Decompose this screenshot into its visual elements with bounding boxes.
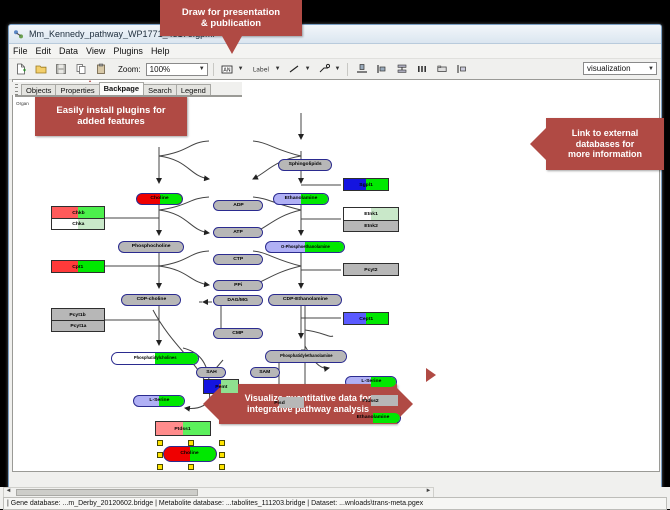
status-text: | Gene database: ...m_Derby_20120602.bri… <box>3 497 667 510</box>
svg-text:Label: Label <box>253 67 270 74</box>
callout-draw-line2: & publication <box>201 18 261 29</box>
tab-legend[interactable]: Legend <box>176 84 211 95</box>
callout-visualize-line2: integrative pathway analysis <box>247 404 369 415</box>
gene-row: Ptdss1 <box>156 422 210 435</box>
gene-row: Pcyt1a <box>52 320 104 331</box>
gene-product-node[interactable]: Sgpl1 <box>343 178 389 191</box>
scroll-right-arrow-icon[interactable]: ► <box>424 488 433 497</box>
menu-plugins[interactable]: Plugins <box>113 46 143 56</box>
zoom-combo[interactable]: 100% ▼ <box>146 63 208 76</box>
gene-row: Chka <box>52 218 104 229</box>
gene-label: Ptdss2 <box>363 398 379 404</box>
interaction-icon[interactable] <box>316 61 333 78</box>
callout-plugins: Easily install plugins for added feature… <box>35 96 187 136</box>
open-folder-icon[interactable] <box>32 61 49 78</box>
toolbar-separator <box>213 63 214 76</box>
metabolite-node[interactable]: Phosphocholine <box>118 241 184 253</box>
node-label: CTP <box>233 257 243 262</box>
chevron-down-icon: ▼ <box>199 66 205 72</box>
gene-product-node[interactable]: Ptdss1 <box>155 421 211 436</box>
zoom-label: Zoom: <box>118 65 141 74</box>
menu-edit[interactable]: Edit <box>36 46 52 56</box>
side-panel: Objects Properties Backpage Search Legen… <box>10 82 242 95</box>
gene-label: Etnk1 <box>364 211 378 217</box>
gene-row: Cpt1 <box>52 261 104 272</box>
align-left-icon[interactable] <box>373 61 390 78</box>
gene-product-node[interactable]: Cept1 <box>343 312 389 325</box>
metabolite-node[interactable]: CDP-choline <box>121 294 181 306</box>
floppy-save-icon[interactable] <box>52 61 69 78</box>
callout-visualize-line1: Visualize quantitative data for <box>245 393 372 404</box>
node-label: CDP-choline <box>136 297 166 302</box>
chevron-down-icon: ▼ <box>648 66 654 72</box>
gene-row: Etnk1 <box>344 208 398 220</box>
node-label: Phosphocholine <box>132 244 171 249</box>
callout-links-arrow <box>530 128 546 160</box>
node-label: Phosphatidylethanolamine <box>280 354 333 358</box>
node-label: Phosphatidylcholines <box>134 356 177 360</box>
tab-properties[interactable]: Properties <box>55 84 99 95</box>
datanode-dropdown-icon[interactable]: ▼ <box>238 66 244 72</box>
gene-label: Cept1 <box>359 316 373 322</box>
gene-label: Pcyt2 <box>364 267 377 273</box>
node-label: Choline <box>181 451 199 456</box>
metabolite-node[interactable]: L-Serine <box>133 395 185 407</box>
menu-file[interactable]: File <box>13 46 28 56</box>
callout-links-line2: databases for <box>576 139 635 150</box>
gene-label: Ptdss1 <box>175 426 191 432</box>
visualization-combo[interactable]: visualization ▼ <box>583 62 657 75</box>
node-label: SAH <box>206 370 217 375</box>
callout-draw-line1: Draw for presentation <box>182 7 280 18</box>
metabolite-node[interactable]: PPi <box>213 280 263 291</box>
gene-label: Chka <box>72 221 84 227</box>
menubar: File Edit Data View Plugins Help <box>9 44 661 59</box>
gene-label: Sgpl1 <box>359 182 373 188</box>
callout-draw-arrow <box>222 36 242 54</box>
node-label: L-Serine <box>149 398 169 403</box>
line-icon[interactable] <box>286 61 303 78</box>
gene-row: Pcyt2 <box>344 264 398 275</box>
pathvisio-app-icon <box>13 29 24 40</box>
gene-label: Etnk2 <box>364 223 378 229</box>
tab-backpage[interactable]: Backpage <box>99 82 144 95</box>
gene-label: Pemt <box>215 384 227 390</box>
metabolite-node[interactable]: Sphingolipids <box>278 159 332 171</box>
gene-row: Pcyt1b <box>52 309 104 320</box>
gene-label: Pisd <box>274 400 285 406</box>
backpage-scroll-content: ChEBI 15354 HMDB HMDB00097 Kegg Compound… <box>16 96 231 97</box>
callout-plugins-line2: added features <box>77 116 145 127</box>
metabolite-node[interactable]: DAG/MG <box>213 295 263 306</box>
metabolite-node[interactable]: Phosphatidylcholines <box>111 352 199 365</box>
statusbar: ◄ ► | Gene database: ...m_Derby_20120602… <box>0 487 670 509</box>
gene-product-node[interactable]: Cpt1 <box>51 260 105 273</box>
distribute-icon[interactable] <box>413 61 430 78</box>
node-label: ATP <box>233 230 243 235</box>
metabolite-node[interactable]: CTP <box>213 254 263 265</box>
screenshot-root: Mm_Kennedy_pathway_WP1771_45176.gpml Fil… <box>0 0 670 509</box>
callout-expression-arrow <box>426 368 436 382</box>
new-document-icon[interactable] <box>12 61 29 78</box>
node-label: ADP <box>233 203 244 208</box>
clipboard-paste-icon[interactable] <box>92 61 109 78</box>
side-panel-tabs: Objects Properties Backpage Search Legen… <box>10 82 242 95</box>
copy-icon[interactable] <box>72 61 89 78</box>
backpage-panel: ChEBI 15354 HMDB HMDB00097 Kegg Compound… <box>15 95 242 97</box>
group-icon[interactable] <box>433 61 450 78</box>
metabolite-node[interactable]: Choline <box>136 193 183 205</box>
tab-drag-handle[interactable] <box>15 82 19 95</box>
metabolite-node[interactable]: O-Phosphoethanolamine <box>265 241 345 253</box>
node-label: Ethanolamine <box>357 415 390 420</box>
zoom-value: 100% <box>150 65 170 74</box>
gene-label: Pcyt1b <box>70 312 86 318</box>
callout-draw: Draw for presentation & publication <box>160 0 302 36</box>
window-titlebar: Mm_Kennedy_pathway_WP1771_45176.gpml <box>9 25 661 44</box>
callout-links: Link to external databases for more info… <box>546 118 664 170</box>
node-label: Ethanolamine <box>285 196 318 201</box>
gene-row: Etnk2 <box>344 220 398 232</box>
metabolite-node[interactable]: Ethanolamine <box>273 193 329 205</box>
align-top-icon[interactable] <box>353 61 370 78</box>
gene-label: Pcyt1a <box>70 323 86 329</box>
gene-product-node[interactable]: Pcyt2 <box>343 263 399 276</box>
svg-text:AN: AN <box>224 67 231 73</box>
tab-search[interactable]: Search <box>143 84 177 95</box>
scroll-left-arrow-icon[interactable]: ◄ <box>4 488 13 497</box>
node-label: CMP <box>232 331 243 336</box>
toolbar-separator-2 <box>347 63 348 76</box>
node-label: Sphingolipids <box>289 162 322 167</box>
metabolite-node[interactable]: CMP <box>213 328 263 339</box>
gene-product-node[interactable]: Pcyt1bPcyt1a <box>51 308 105 332</box>
node-label: CDP-Ethanolamine <box>283 297 328 302</box>
hscrollbar-thumb[interactable] <box>16 489 198 496</box>
menu-view[interactable]: View <box>86 46 105 56</box>
gene-product-node[interactable]: ChkbChka <box>51 206 105 230</box>
menu-help[interactable]: Help <box>151 46 170 56</box>
label-icon[interactable]: Label <box>249 61 273 78</box>
datanode-icon[interactable]: AN <box>219 61 236 78</box>
gene-label: Cpt1 <box>72 264 83 270</box>
line-dropdown-icon[interactable]: ▼ <box>305 66 311 72</box>
gene-row: Cept1 <box>344 313 388 324</box>
order-icon[interactable] <box>453 61 470 78</box>
label-dropdown-icon[interactable]: ▼ <box>275 66 281 72</box>
node-label: PPi <box>234 283 242 288</box>
node-label: Choline <box>150 196 168 201</box>
gene-label: Chkb <box>72 210 84 216</box>
callout-plugins-line1: Easily install plugins for <box>56 105 165 116</box>
gene-row: Sgpl1 <box>344 179 388 190</box>
metabolite-node[interactable]: Phosphatidylethanolamine <box>265 350 347 363</box>
callout-links-line3: more information <box>568 149 642 160</box>
pathvisio-window: Mm_Kennedy_pathway_WP1771_45176.gpml Fil… <box>8 24 662 499</box>
node-label: O-Phosphoethanolamine <box>281 245 330 249</box>
callout-visualize-arrow <box>203 388 219 420</box>
interaction-dropdown-icon[interactable]: ▼ <box>335 66 341 72</box>
node-label: L-Serine <box>361 379 381 384</box>
gene-row: Chkb <box>52 207 104 218</box>
metabolite-node[interactable]: ADP <box>213 200 263 211</box>
tab-objects[interactable]: Objects <box>21 84 56 95</box>
gene-product-node[interactable]: Etnk1Etnk2 <box>343 207 399 232</box>
stack-center-icon[interactable] <box>393 61 410 78</box>
metabolite-node[interactable]: ATP <box>213 227 263 238</box>
menu-data[interactable]: Data <box>59 46 78 56</box>
visualization-value: visualization <box>587 64 631 73</box>
metabolite-node[interactable]: SAM <box>250 367 280 378</box>
metabolite-node[interactable]: CDP-Ethanolamine <box>268 294 342 306</box>
node-label: SAM <box>259 370 270 375</box>
callout-links-line1: Link to external <box>572 128 639 139</box>
metabolite-node[interactable]: SAH <box>196 367 226 378</box>
node-label: DAG/MG <box>228 298 248 303</box>
